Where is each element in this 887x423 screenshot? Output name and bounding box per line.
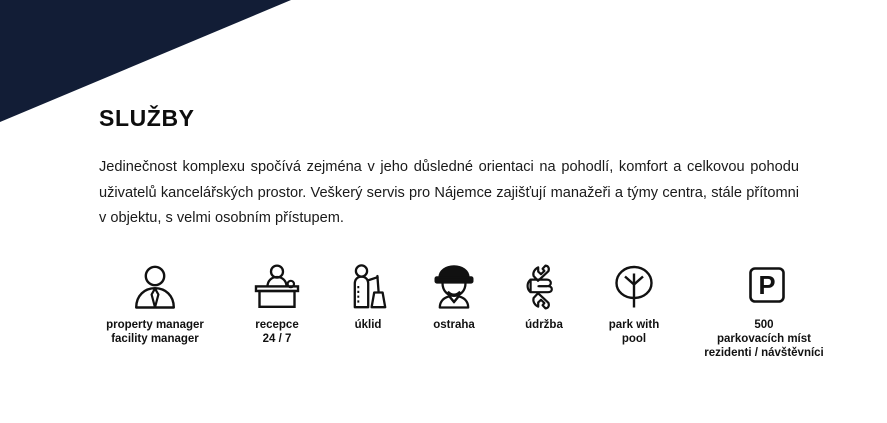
service-label: úklid <box>355 318 382 332</box>
parking-sign-icon: P <box>742 264 786 310</box>
services-list: property manager facility manager recepc… <box>93 264 839 360</box>
service-item-cleaning: úklid <box>337 264 399 332</box>
services-page: SLUŽBY Jedinečnost komplexu spočívá zejm… <box>0 0 887 423</box>
svg-text:P: P <box>758 272 775 300</box>
service-item-property-manager: property manager facility manager <box>93 264 217 346</box>
service-label: údržba <box>525 318 563 332</box>
service-item-park: park with pool <box>597 264 671 346</box>
intro-paragraph: Jedinečnost komplexu spočívá zejména v j… <box>99 155 799 232</box>
service-item-security: ostraha <box>417 264 491 332</box>
page-title: SLUŽBY <box>99 105 195 132</box>
service-label: 500 parkovacích míst rezidenti / návštěv… <box>704 318 824 360</box>
tree-icon <box>612 264 656 310</box>
person-in-suit-icon <box>133 264 177 310</box>
hand-with-wrench-icon <box>526 264 562 310</box>
security-guard-icon <box>431 264 477 310</box>
service-label: park with pool <box>609 318 659 346</box>
service-item-parking: P 500 parkovacích míst rezidenti / návšt… <box>689 264 839 360</box>
service-label: recepce 24 / 7 <box>255 318 298 346</box>
service-label: ostraha <box>433 318 475 332</box>
reception-desk-icon <box>253 264 301 310</box>
service-item-reception: recepce 24 / 7 <box>235 264 319 346</box>
service-item-maintenance: údržba <box>509 264 579 332</box>
cleaning-person-icon <box>348 264 388 310</box>
service-label: property manager facility manager <box>106 318 204 346</box>
